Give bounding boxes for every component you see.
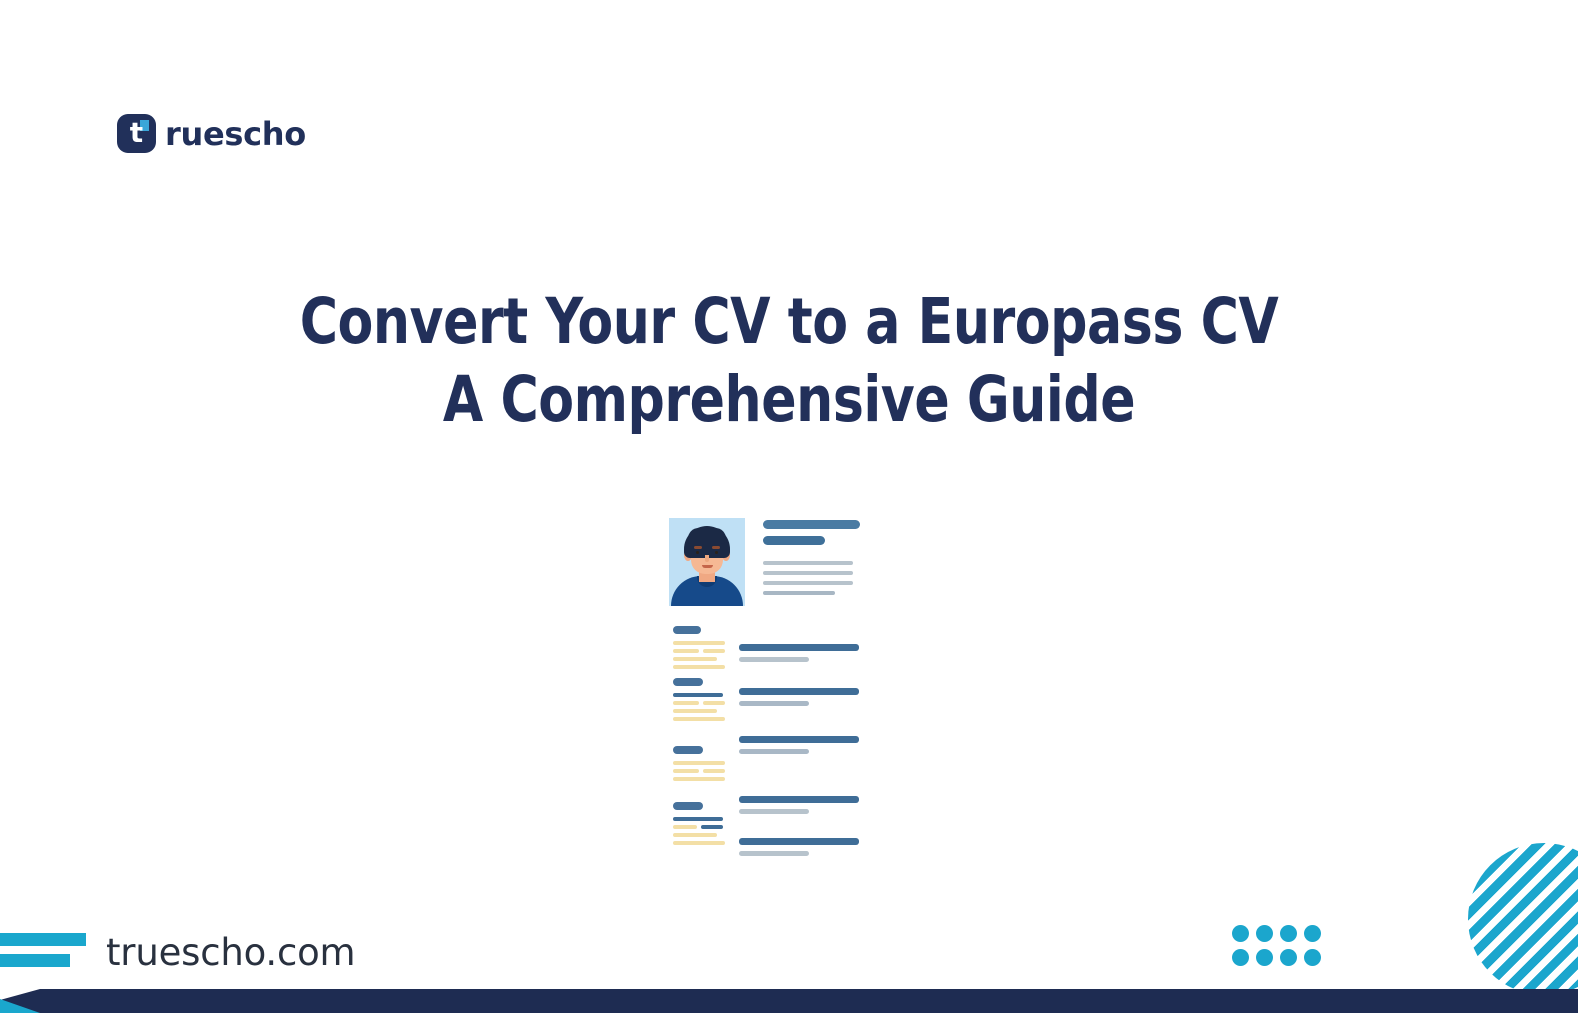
- footer-accent-bar-bottom: [0, 954, 70, 967]
- avatar-eyebrow-left: [694, 546, 702, 549]
- footer-domain-text[interactable]: truescho.com: [106, 931, 355, 974]
- cv-left-column: [673, 678, 735, 725]
- cv-entry-title-bar: [739, 736, 859, 743]
- cv-section-row: [669, 626, 861, 678]
- cv-detail-line: [673, 701, 699, 705]
- europass-cv-document-illustration: [669, 518, 861, 810]
- cv-right-column: [739, 796, 861, 814]
- dot: [1280, 949, 1297, 966]
- dot: [1304, 949, 1321, 966]
- cv-entry-title-bar: [739, 688, 859, 695]
- cv-detail-line: [673, 817, 723, 821]
- cv-detail-line: [673, 833, 717, 837]
- cv-right-column: [739, 644, 861, 662]
- cv-right-column: [739, 688, 861, 706]
- cv-detail-line: [673, 641, 725, 645]
- avatar-eyebrow-right: [712, 546, 720, 549]
- decorative-striped-circle-icon: [1468, 843, 1578, 995]
- cv-detail-line: [673, 693, 723, 697]
- cv-section-pill: [673, 802, 703, 810]
- cv-detail-line: [673, 709, 717, 713]
- avatar-nose: [705, 555, 709, 562]
- dot: [1256, 949, 1273, 966]
- cv-entry-title-bar: [739, 644, 859, 651]
- avatar-fringe: [688, 528, 726, 544]
- cv-section-pill: [673, 678, 703, 686]
- cv-contact-line: [763, 581, 853, 585]
- cv-left-column: [673, 626, 735, 673]
- cv-section-row: [669, 678, 861, 736]
- dot: [1304, 925, 1321, 942]
- cv-right-column: [739, 736, 861, 754]
- cv-section-row: [669, 788, 861, 838]
- dot: [1280, 925, 1297, 942]
- cv-left-column: [673, 746, 735, 785]
- footer-domain-group: truescho.com: [0, 929, 355, 975]
- cv-role-bar: [763, 536, 825, 545]
- cv-contact-line: [763, 591, 835, 595]
- dot: [1256, 925, 1273, 942]
- cv-entry-title-bar: [739, 838, 859, 845]
- cv-section-pill: [673, 626, 701, 634]
- cv-contact-line: [763, 571, 853, 575]
- brand-logo[interactable]: t ruescho: [117, 114, 306, 153]
- cv-header-text-block: [763, 520, 861, 601]
- cv-detail-line: [703, 701, 725, 705]
- cv-entry-detail-bar: [739, 701, 809, 706]
- truescho-logo-icon: t: [117, 114, 156, 153]
- page-title: Convert Your CV to a Europass CV A Compr…: [63, 283, 1515, 439]
- cv-section-row: [669, 736, 861, 788]
- cv-detail-line: [673, 657, 717, 661]
- cv-entry-detail-bar: [739, 657, 809, 662]
- dot: [1232, 949, 1249, 966]
- decorative-dot-grid-icon: [1232, 925, 1328, 973]
- cv-header-section: [669, 518, 861, 606]
- cv-right-column: [739, 838, 861, 856]
- cv-name-bar: [763, 520, 860, 529]
- cv-detail-line: [703, 649, 725, 653]
- logo-letter: t: [117, 114, 156, 153]
- avatar-eye-right: [715, 551, 718, 554]
- cv-contact-line: [763, 561, 853, 565]
- avatar-eye-left: [696, 551, 699, 554]
- cv-entry-detail-bar: [739, 851, 809, 856]
- cv-detail-line-pair: [673, 769, 735, 773]
- cv-entry-detail-bar: [739, 809, 809, 814]
- cv-detail-line-pair: [673, 825, 735, 829]
- avatar-mouth: [702, 565, 713, 568]
- cv-entry-detail-bar: [739, 749, 809, 754]
- cv-detail-line: [673, 761, 725, 765]
- brand-wordmark: ruescho: [165, 115, 306, 153]
- cv-detail-line: [673, 717, 725, 721]
- footer-bar: [0, 989, 1578, 1013]
- cv-detail-line-pair: [673, 649, 735, 653]
- page-title-line-2: A Comprehensive Guide: [63, 361, 1515, 439]
- cv-entry-title-bar: [739, 796, 859, 803]
- cv-detail-line-pair: [673, 701, 735, 705]
- cv-detail-line: [673, 825, 697, 829]
- cv-body-section: [669, 626, 861, 868]
- cv-detail-line: [673, 649, 699, 653]
- footer-accent-bar-top: [0, 933, 86, 946]
- cv-detail-line: [673, 777, 725, 781]
- cv-photo-avatar: [669, 518, 745, 606]
- dot: [1232, 925, 1249, 942]
- cv-detail-line: [701, 825, 723, 829]
- cv-section-pill: [673, 746, 703, 754]
- footer-accent-bars-icon: [0, 929, 86, 975]
- cv-detail-line: [673, 769, 699, 773]
- cv-detail-line: [703, 769, 725, 773]
- page-title-line-1: Convert Your CV to a Europass CV: [63, 283, 1515, 361]
- cv-detail-line: [673, 665, 725, 669]
- cv-section-row: [669, 838, 861, 868]
